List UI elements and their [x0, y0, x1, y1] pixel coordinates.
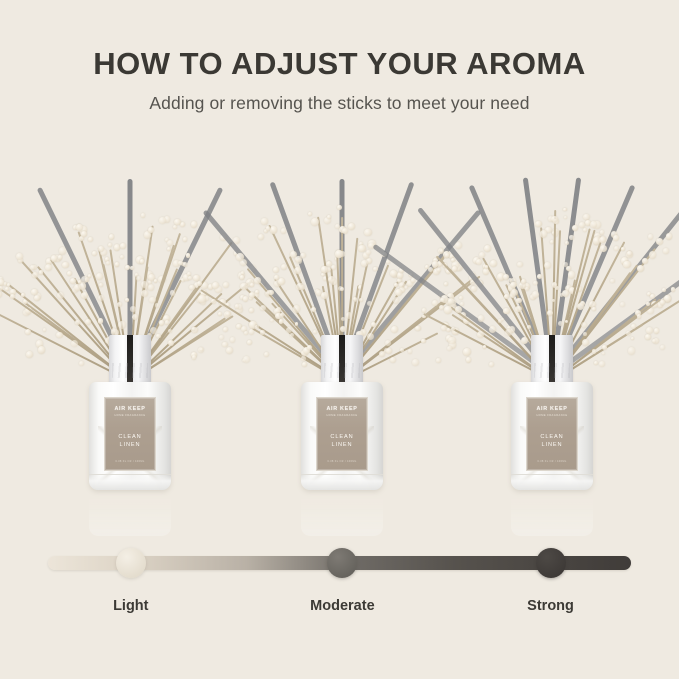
- flower-floret: [311, 307, 316, 312]
- flower-floret: [192, 327, 196, 331]
- scent-name: CLEAN LINEN: [540, 433, 563, 450]
- volume-text: 3.38 FL OZ / 100ML: [105, 460, 155, 463]
- flower-floret: [359, 298, 363, 302]
- flower-floret: [535, 221, 542, 228]
- flower-floret: [5, 287, 9, 291]
- flower-floret: [81, 231, 87, 237]
- flower-floret: [193, 275, 199, 281]
- flower-floret: [516, 298, 521, 303]
- volume-text: 3.38 FL OZ / 100ML: [317, 460, 367, 463]
- bottle-body: AIR KEEP HOME FRAGRANCE CLEAN LINEN 3.38…: [301, 382, 383, 490]
- flower-floret: [311, 218, 318, 225]
- bottle-label: AIR KEEP HOME FRAGRANCE CLEAN LINEN 3.38…: [316, 397, 368, 471]
- brand-tagline: HOME FRAGRANCE: [536, 414, 567, 417]
- flower-floret: [249, 308, 254, 313]
- flower-floret: [321, 266, 327, 272]
- flower-floret: [432, 261, 438, 267]
- flower-floret: [178, 261, 183, 266]
- flower-floret: [273, 267, 279, 273]
- flower-floret: [294, 267, 301, 274]
- flower-floret: [266, 291, 270, 295]
- flower-floret: [159, 320, 165, 326]
- flower-floret: [62, 262, 69, 269]
- flower-floret: [489, 362, 494, 367]
- flower-floret: [106, 261, 110, 265]
- flower-floret: [335, 224, 340, 229]
- flower-floret: [74, 284, 81, 291]
- flower-floret: [21, 293, 25, 297]
- flower-floret: [281, 228, 287, 234]
- flower-floret: [313, 330, 317, 334]
- flower-floret: [140, 259, 144, 263]
- flower-floret: [610, 279, 615, 284]
- flower-floret: [296, 283, 303, 290]
- flower-floret: [170, 290, 175, 295]
- flower-floret: [444, 306, 452, 314]
- flower-floret: [628, 347, 635, 354]
- flower-floret: [646, 327, 653, 334]
- flower-floret: [230, 337, 236, 343]
- flower-floret: [270, 226, 277, 233]
- flower-floret: [243, 356, 250, 363]
- flower-floret: [111, 328, 116, 333]
- flower-floret: [489, 326, 496, 333]
- flower-floret: [532, 291, 539, 298]
- flower-floret: [258, 234, 264, 240]
- flower-floret: [346, 312, 353, 319]
- flower-floret: [642, 258, 648, 264]
- flower-floret: [626, 331, 631, 336]
- flower-floret: [451, 258, 455, 262]
- flower-floret: [154, 279, 158, 283]
- flower-floret: [120, 255, 124, 259]
- flower-floret: [32, 272, 38, 278]
- flower-floret: [243, 296, 249, 302]
- flower-floret: [198, 295, 206, 303]
- flower-floret: [71, 340, 78, 347]
- flower-floret: [81, 276, 88, 283]
- flower-floret: [189, 285, 195, 291]
- brand-tagline: HOME FRAGRANCE: [114, 414, 145, 417]
- flower-floret: [108, 243, 112, 247]
- flower-floret: [590, 221, 597, 228]
- flower-floret: [547, 310, 553, 316]
- flower-floret: [391, 326, 398, 333]
- bottle-reflection: [511, 490, 593, 536]
- flower-floret: [115, 262, 120, 267]
- flower-floret: [479, 252, 485, 258]
- flower-floret: [562, 290, 569, 297]
- flower-floret: [552, 282, 557, 287]
- flower-floret: [490, 260, 497, 267]
- flower-floret: [85, 319, 91, 325]
- flower-floret: [477, 331, 484, 338]
- flower-floret: [663, 248, 668, 253]
- slider-knob-moderate[interactable]: [327, 548, 357, 578]
- flower-floret: [192, 355, 197, 360]
- flower-floret: [503, 308, 510, 315]
- flower-floret: [563, 208, 567, 212]
- flower-floret: [244, 331, 248, 335]
- flower-floret: [117, 302, 122, 307]
- flower-floret: [621, 247, 625, 251]
- flower-floret: [255, 290, 259, 294]
- flower-floret: [183, 262, 188, 267]
- flower-floret: [212, 282, 219, 289]
- flower-floret: [485, 265, 489, 269]
- flower-floret: [168, 329, 172, 333]
- flower-floret: [577, 303, 584, 310]
- flower-floret: [327, 215, 331, 219]
- flower-floret: [278, 278, 285, 285]
- flower-floret: [300, 253, 305, 258]
- flower-floret: [671, 287, 675, 291]
- bottle-body: AIR KEEP HOME FRAGRANCE CLEAN LINEN 3.38…: [511, 382, 593, 490]
- flower-floret: [366, 250, 371, 255]
- flower-floret: [537, 274, 542, 279]
- flower-floret: [579, 222, 585, 228]
- flower-floret: [98, 318, 103, 323]
- flower-floret: [186, 253, 190, 257]
- flower-floret: [393, 297, 400, 304]
- slider-label-moderate: Moderate: [310, 598, 374, 614]
- flower-floret: [445, 253, 449, 257]
- flower-floret: [466, 357, 472, 363]
- bottle-label: AIR KEEP HOME FRAGRANCE CLEAN LINEN 3.38…: [104, 397, 156, 471]
- flower-floret: [400, 348, 404, 352]
- flower-floret: [75, 320, 79, 324]
- flower-floret: [159, 217, 166, 224]
- bottle-reflection: [301, 490, 383, 536]
- flower-floret: [484, 245, 491, 252]
- flower-floret: [247, 340, 252, 345]
- flower-floret: [130, 266, 134, 270]
- flower-floret: [515, 306, 521, 312]
- flower-floret: [34, 295, 40, 301]
- flower-floret: [399, 282, 405, 288]
- flower-floret: [478, 315, 484, 321]
- flower-floret: [533, 281, 538, 286]
- flower-floret: [260, 330, 264, 334]
- flower-floret: [109, 234, 114, 239]
- brand-name: AIR KEEP: [114, 406, 145, 412]
- flower-floret: [544, 262, 551, 269]
- flower-floret: [114, 244, 121, 251]
- flower-floret: [627, 251, 632, 256]
- flower-floret: [358, 245, 365, 252]
- flower-floret: [510, 282, 516, 288]
- diffuser-bottle-strong: AIR KEEP HOME FRAGRANCE CLEAN LINEN 3.38…: [504, 335, 600, 490]
- flower-floret: [631, 337, 634, 340]
- flower-floret: [328, 276, 335, 283]
- flower-floret: [76, 224, 83, 231]
- flower-floret: [183, 237, 187, 241]
- flower-floret: [583, 214, 590, 221]
- flower-floret: [463, 348, 471, 356]
- flower-floret: [249, 329, 255, 335]
- flower-floret: [335, 250, 343, 258]
- flower-floret: [564, 216, 568, 220]
- flower-floret: [415, 326, 420, 331]
- flower-floret: [662, 288, 666, 292]
- intensity-slider[interactable]: [48, 556, 631, 570]
- flower-floret: [394, 283, 398, 287]
- flower-floret: [141, 213, 145, 217]
- flower-floret: [648, 234, 654, 240]
- flower-floret: [444, 282, 449, 287]
- flower-floret: [266, 226, 270, 230]
- flower-floret: [551, 216, 557, 222]
- flower-floret: [581, 322, 587, 328]
- flower-floret: [240, 283, 248, 291]
- flower-floret: [51, 255, 57, 261]
- flower-floret: [264, 352, 269, 357]
- flower-floret: [67, 271, 72, 276]
- flower-floret: [565, 241, 569, 245]
- flower-floret: [432, 300, 438, 306]
- flower-floret: [98, 295, 104, 301]
- flower-floret: [96, 273, 103, 280]
- flower-floret: [337, 205, 342, 210]
- flower-floret: [568, 271, 576, 279]
- flower-floret: [88, 237, 93, 242]
- flower-floret: [240, 275, 245, 280]
- flower-floret: [149, 297, 155, 303]
- flower-floret: [600, 230, 604, 234]
- diffuser-bottle-light: AIR KEEP HOME FRAGRANCE CLEAN LINEN 3.38…: [82, 335, 178, 490]
- flower-floret: [270, 319, 274, 323]
- flower-floret: [56, 332, 63, 339]
- flower-floret: [125, 298, 129, 302]
- flower-floret: [150, 327, 157, 334]
- flower-floret: [261, 218, 267, 224]
- brand-tagline: HOME FRAGRANCE: [326, 414, 357, 417]
- slider-knob-strong[interactable]: [536, 548, 566, 578]
- flower-floret: [602, 345, 607, 350]
- flower-floret: [254, 277, 261, 284]
- brand-name: AIR KEEP: [536, 406, 567, 412]
- flower-floret: [45, 264, 52, 271]
- flower-floret: [666, 233, 673, 240]
- flower-floret: [563, 262, 568, 267]
- flower-floret: [200, 348, 203, 351]
- flower-floret: [572, 225, 578, 231]
- flower-floret: [148, 227, 154, 233]
- bottle-body: AIR KEEP HOME FRAGRANCE CLEAN LINEN 3.38…: [89, 382, 171, 490]
- flower-floret: [476, 259, 482, 265]
- flower-floret: [650, 294, 655, 299]
- flower-floret: [660, 300, 664, 304]
- brand-name: AIR KEEP: [326, 406, 357, 412]
- flower-floret: [583, 228, 587, 232]
- flower-floret: [321, 292, 327, 298]
- flower-floret: [188, 276, 192, 280]
- flower-floret: [649, 251, 656, 258]
- flower-floret: [30, 265, 35, 270]
- flower-floret: [308, 212, 312, 216]
- flower-floret: [255, 325, 258, 328]
- flower-floret: [120, 243, 126, 249]
- flower-floret: [437, 268, 441, 272]
- flower-floret: [656, 238, 663, 245]
- flower-floret: [141, 290, 148, 297]
- flower-floret: [155, 303, 159, 307]
- flower-floret: [395, 289, 402, 296]
- flower-floret: [280, 313, 284, 317]
- flower-floret: [219, 335, 224, 340]
- flower-floret: [600, 245, 607, 252]
- bottle-collar: [109, 335, 151, 385]
- flower-floret: [130, 306, 135, 311]
- flower-floret: [132, 314, 138, 320]
- flower-floret: [558, 321, 563, 326]
- flower-floret: [623, 261, 630, 268]
- flower-floret: [390, 270, 397, 277]
- flower-floret: [664, 295, 670, 301]
- flower-floret: [286, 327, 292, 333]
- volume-text: 3.38 FL OZ / 100ML: [527, 460, 577, 463]
- flower-floret: [460, 302, 464, 306]
- flower-floret: [599, 237, 606, 244]
- flower-floret: [652, 339, 656, 343]
- flower-floret: [348, 223, 355, 230]
- slider-label-strong: Strong: [527, 598, 574, 614]
- flower-floret: [364, 229, 372, 237]
- flower-floret: [645, 334, 651, 340]
- scent-name: CLEAN LINEN: [330, 433, 353, 450]
- flower-floret: [613, 235, 619, 241]
- flower-floret: [525, 287, 529, 291]
- flower-floret: [341, 317, 346, 322]
- slider-labels: Light Moderate Strong: [48, 598, 631, 620]
- flower-floret: [390, 357, 396, 363]
- flower-floret: [174, 219, 181, 226]
- bottle-reflection: [89, 490, 171, 536]
- flower-floret: [39, 270, 43, 274]
- flower-floret: [342, 228, 348, 234]
- flower-floret: [498, 319, 502, 323]
- flower-floret: [38, 346, 45, 353]
- flower-floret: [521, 279, 526, 284]
- flower-floret: [421, 339, 425, 343]
- flower-floret: [637, 314, 641, 318]
- flower-floret: [452, 266, 457, 271]
- flower-floret: [136, 276, 141, 281]
- bottle-collar: [531, 335, 573, 385]
- flower-floret: [592, 307, 596, 311]
- infographic-canvas: HOW TO ADJUST YOUR AROMA Adding or remov…: [0, 0, 679, 679]
- flower-floret: [422, 308, 426, 312]
- bottle-collar: [321, 335, 363, 385]
- flower-floret: [191, 221, 198, 228]
- flower-floret: [25, 329, 31, 335]
- flower-floret: [26, 351, 33, 358]
- flower-floret: [218, 312, 222, 316]
- flower-floret: [293, 305, 301, 313]
- flower-floret: [397, 272, 404, 279]
- flower-floret: [58, 255, 62, 259]
- diffuser-bottle-moderate: AIR KEEP HOME FRAGRANCE CLEAN LINEN 3.38…: [294, 335, 390, 490]
- flower-floret: [173, 225, 177, 229]
- flower-floret: [527, 325, 531, 329]
- flower-floret: [59, 247, 67, 255]
- flower-floret: [441, 325, 447, 331]
- scent-name: CLEAN LINEN: [118, 433, 141, 450]
- flower-floret: [540, 230, 548, 238]
- flower-floret: [211, 299, 216, 304]
- flower-floret: [569, 235, 574, 240]
- flower-floret: [88, 274, 92, 278]
- flower-floret: [373, 267, 377, 271]
- flower-floret: [602, 352, 605, 355]
- flower-floret: [92, 251, 97, 256]
- flower-floret: [408, 349, 412, 353]
- flower-floret: [517, 262, 522, 267]
- flower-floret: [43, 328, 47, 332]
- flower-floret: [504, 294, 509, 299]
- slider-knob-light[interactable]: [116, 548, 146, 578]
- flower-floret: [637, 265, 644, 272]
- slider-label-light: Light: [113, 598, 148, 614]
- flower-floret: [620, 302, 625, 307]
- flower-floret: [654, 328, 660, 334]
- flower-floret: [295, 322, 299, 326]
- flower-floret: [440, 298, 445, 303]
- flower-floret: [274, 275, 279, 280]
- bottle-label: AIR KEEP HOME FRAGRANCE CLEAN LINEN 3.38…: [526, 397, 578, 471]
- flower-floret: [660, 345, 665, 350]
- flower-floret: [236, 253, 244, 261]
- flower-floret: [361, 260, 368, 267]
- flower-floret: [412, 359, 419, 366]
- flower-floret: [483, 345, 486, 348]
- flower-floret: [99, 283, 103, 287]
- flower-floret: [340, 287, 344, 291]
- flower-floret: [81, 292, 88, 299]
- flower-floret: [148, 284, 155, 291]
- flower-floret: [118, 321, 126, 329]
